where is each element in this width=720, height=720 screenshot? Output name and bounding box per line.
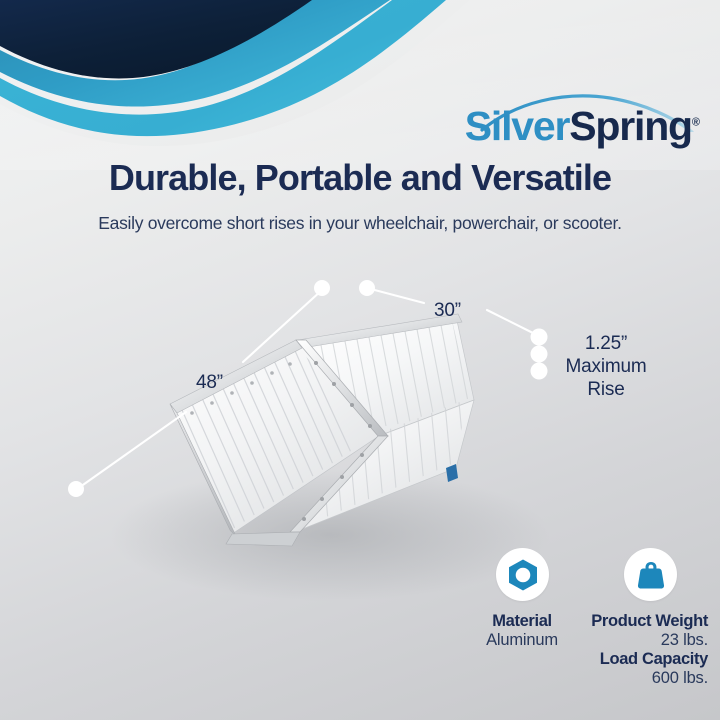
brand-logo: SilverSpring®	[424, 92, 700, 154]
weight-text: Product Weight 23 lbs. Load Capacity 600…	[590, 612, 708, 689]
dimension-label-rise: 1.25” Maximum Rise	[556, 332, 656, 402]
dimension-label-width: 30”	[434, 299, 461, 322]
ramp-front-lip	[226, 532, 300, 546]
registered-trademark-icon: ®	[692, 116, 700, 128]
logo-wordmark: SilverSpring®	[424, 106, 700, 147]
page-subtitle: Easily overcome short rises in your whee…	[0, 213, 720, 234]
product-weight-value: 23 lbs.	[590, 631, 708, 650]
hex-nut-icon	[505, 557, 541, 593]
material-value: Aluminum	[464, 631, 580, 650]
material-text: Material Aluminum	[464, 612, 580, 650]
product-banner-canvas: SilverSpring® Durable, Portable and Vers…	[0, 0, 720, 720]
spec-item-material: Material Aluminum	[464, 548, 580, 650]
spec-item-weight: Product Weight 23 lbs. Load Capacity 600…	[590, 548, 708, 689]
weight-badge	[624, 548, 677, 601]
page-title: Durable, Portable and Versatile	[0, 158, 720, 198]
material-badge	[496, 548, 549, 601]
product-weight-title: Product Weight	[590, 612, 708, 631]
rise-line-2: Maximum	[556, 355, 656, 378]
rise-value: 1.25”	[556, 332, 656, 355]
spec-list: Material Aluminum Product Weight 23 lbs.…	[440, 548, 708, 688]
logo-silver-text: Silver	[465, 103, 570, 149]
weight-icon	[634, 558, 668, 592]
dimension-label-length: 48”	[196, 371, 223, 394]
material-title: Material	[464, 612, 580, 631]
logo-spring-text: Spring	[569, 103, 692, 149]
rise-line-3: Rise	[556, 378, 656, 401]
load-capacity-value: 600 lbs.	[590, 669, 708, 688]
load-capacity-title: Load Capacity	[590, 650, 708, 669]
